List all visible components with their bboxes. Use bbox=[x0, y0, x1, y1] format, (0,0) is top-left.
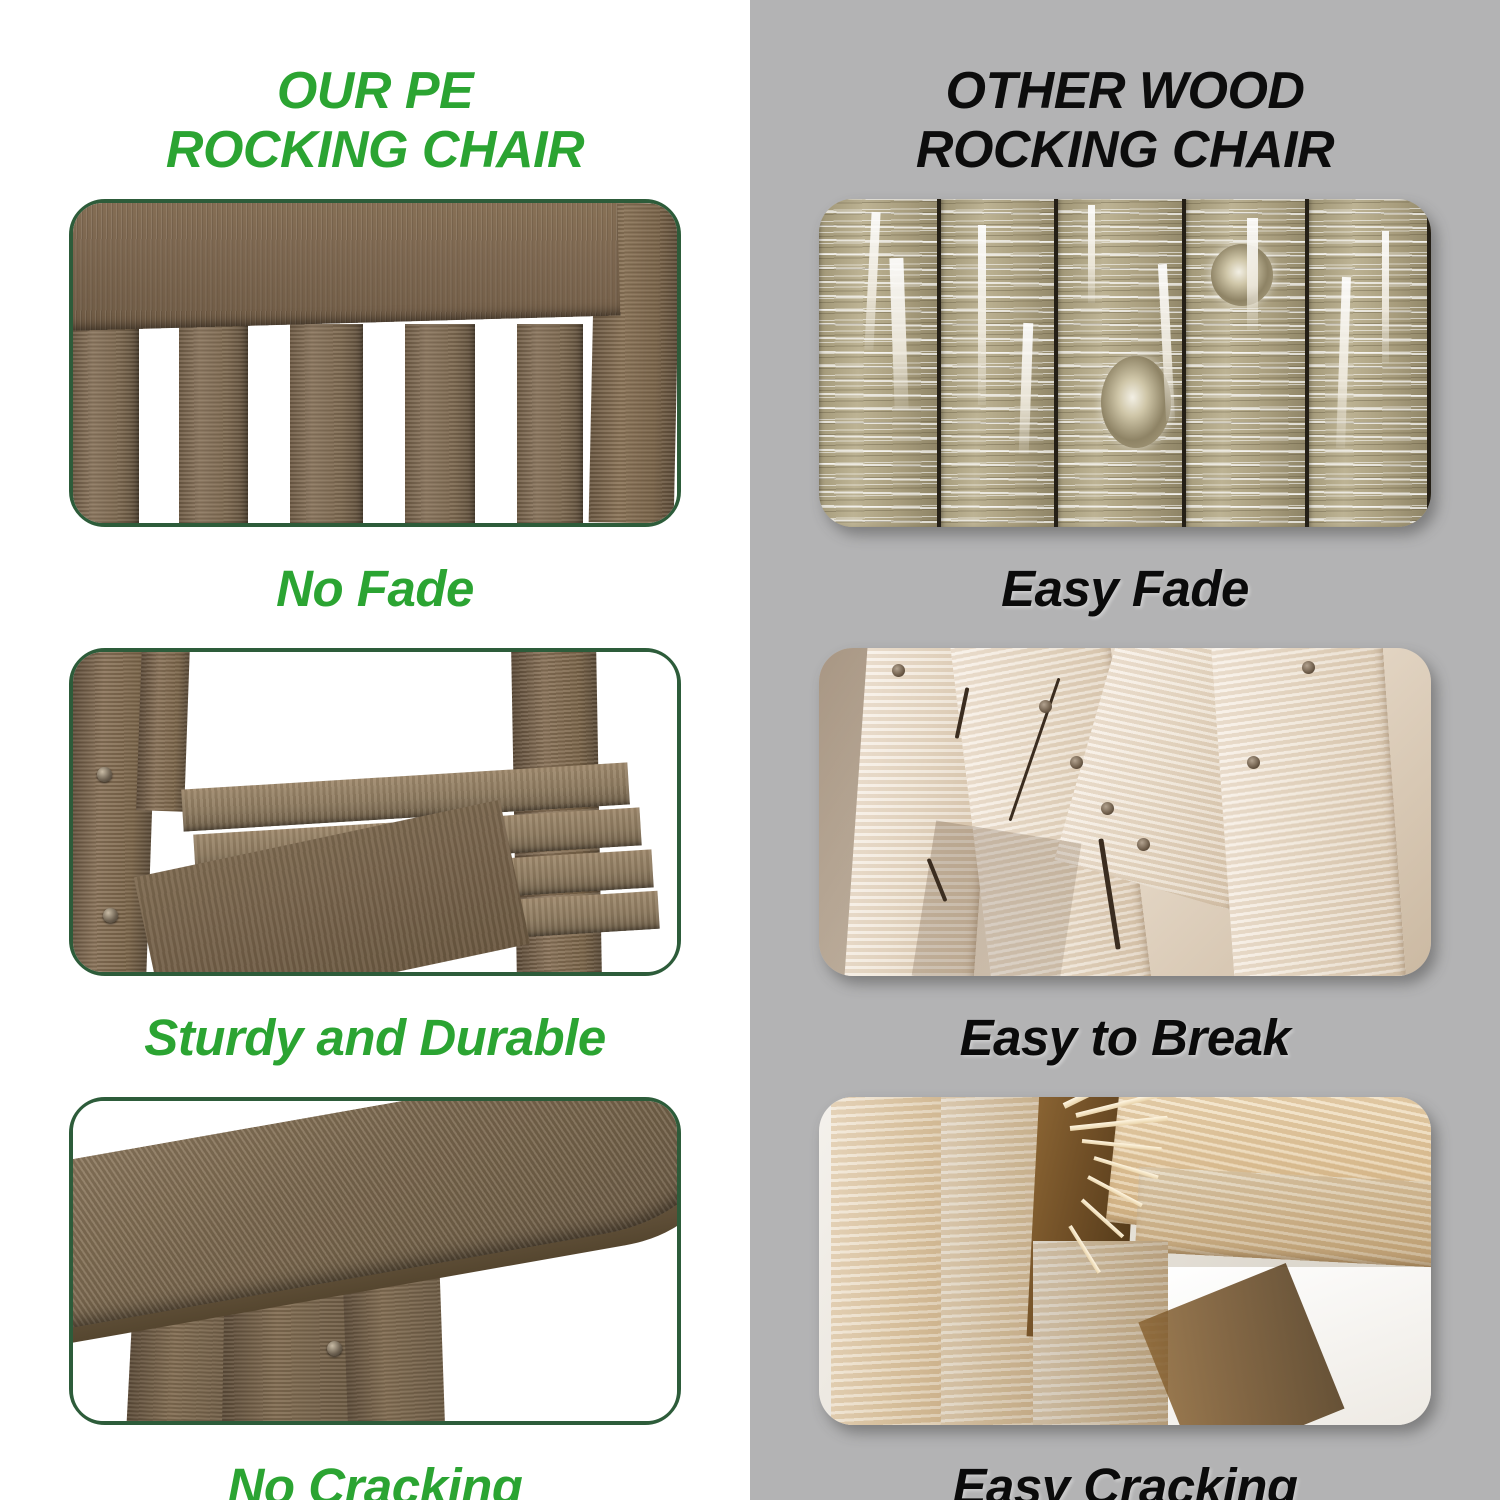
weathered-faded-fence-boards-photo bbox=[819, 199, 1431, 527]
screw-icon bbox=[1070, 756, 1083, 769]
weathered-faded-fence-boards-photo-frame bbox=[819, 199, 1431, 527]
right-caption-easy-to-break: Easy to Break bbox=[750, 976, 1500, 1097]
screw-icon bbox=[1137, 838, 1150, 851]
left-caption-no-fade: No Fade bbox=[0, 527, 750, 648]
right-caption-easy-fade: Easy Fade bbox=[750, 527, 1500, 648]
pe-chair-seat-joint-photo bbox=[73, 652, 677, 972]
left-column-heading: OUR PE ROCKING CHAIR bbox=[45, 62, 705, 181]
right-card-easy-cracking: Easy Cracking bbox=[750, 1097, 1500, 1500]
screw-icon bbox=[97, 767, 112, 782]
right-column-other-product: OTHER WOOD ROCKING CHAIR bbox=[750, 0, 1500, 1500]
cracked-pine-chair-joint-photo bbox=[819, 648, 1431, 976]
pe-chair-back-slats-photo bbox=[73, 203, 677, 523]
comparison-infographic: OUR PE ROCKING CHAIR No Fade bbox=[0, 0, 1500, 1500]
right-card-list: Easy Fade bbox=[750, 199, 1500, 1500]
left-caption-sturdy-durable: Sturdy and Durable bbox=[0, 976, 750, 1097]
right-card-easy-to-break: Easy to Break bbox=[750, 648, 1500, 1097]
right-column-heading: OTHER WOOD ROCKING CHAIR bbox=[795, 62, 1455, 181]
screw-icon bbox=[1101, 802, 1114, 815]
left-card-no-cracking: No Cracking bbox=[0, 1097, 750, 1500]
left-card-list: No Fade bbox=[0, 199, 750, 1500]
pe-chair-seat-joint-photo-frame bbox=[69, 648, 681, 976]
right-card-easy-fade: Easy Fade bbox=[750, 199, 1500, 648]
screw-icon bbox=[327, 1341, 342, 1356]
pe-chair-armrest-corner-photo bbox=[73, 1101, 677, 1421]
left-card-no-fade: No Fade bbox=[0, 199, 750, 648]
left-card-sturdy-durable: Sturdy and Durable bbox=[0, 648, 750, 1097]
right-caption-easy-cracking: Easy Cracking bbox=[750, 1425, 1500, 1500]
left-column-our-product: OUR PE ROCKING CHAIR No Fade bbox=[0, 0, 750, 1500]
screw-icon bbox=[103, 908, 118, 923]
pe-chair-back-slats-photo-frame bbox=[69, 199, 681, 527]
splintered-broken-wood-beam-photo-frame bbox=[819, 1097, 1431, 1425]
splintered-broken-wood-beam-photo bbox=[819, 1097, 1431, 1425]
cracked-pine-chair-joint-photo-frame bbox=[819, 648, 1431, 976]
left-caption-no-cracking: No Cracking bbox=[0, 1425, 750, 1500]
pe-chair-armrest-corner-photo-frame bbox=[69, 1097, 681, 1425]
